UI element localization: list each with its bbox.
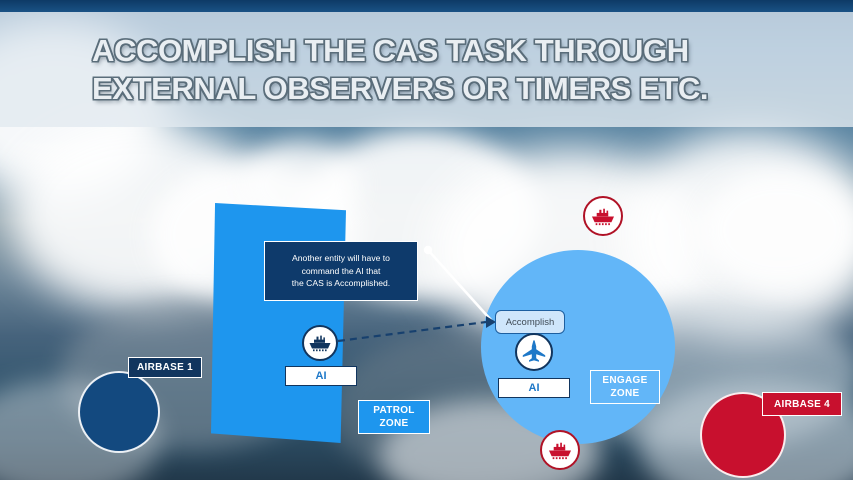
engage-zone-label: ENGAGE ZONE [590,370,660,404]
red-ship-south-token[interactable] [540,430,580,470]
page-title-line-1: ACCOMPLISH THE CAS TASK THROUGH [92,33,689,68]
ship-icon [589,206,617,227]
accomplish-task-label[interactable]: Accomplish [495,310,565,334]
blue-jet-ai-label: AI [498,378,570,398]
blue-ship-token[interactable] [302,325,338,361]
callout-note: Another entity will have to command the … [264,241,418,301]
blue-ship-ai-label: AI [285,366,357,386]
engage-zone-shape[interactable] [481,250,675,444]
callout-line-2: command the AI that [292,265,390,278]
engage-zone-label-line-1: ENGAGE [602,374,647,387]
cloud [700,170,853,290]
page-title-line-2: EXTERNAL OBSERVERS OR TIMERS ETC. [92,70,792,108]
patrol-zone-label: PATROL ZONE [358,400,430,434]
fighter-jet-icon [521,339,547,365]
callout-line-1: Another entity will have to [292,252,390,265]
callout-text: Another entity will have to command the … [284,252,398,290]
page-title: ACCOMPLISH THE CAS TASK THROUGH EXTERNAL… [92,32,792,108]
red-ship-north-token[interactable] [583,196,623,236]
slide-canvas: ACCOMPLISH THE CAS TASK THROUGH EXTERNAL… [0,0,853,480]
ship-icon [546,440,574,461]
engage-zone-label-line-2: ZONE [611,387,640,400]
blue-jet-token[interactable] [515,333,553,371]
callout-line-3: the CAS is Accomplished. [292,277,390,290]
airbase-4-label: AIRBASE 4 [762,392,842,416]
patrol-zone-label-line-2: ZONE [380,417,409,430]
airbase-1-label: AIRBASE 1 [128,357,202,378]
patrol-zone-shape[interactable] [211,203,346,443]
top-sky-strip [0,0,853,12]
ship-icon [307,333,333,353]
airbase-1-circle[interactable] [78,371,160,453]
patrol-zone-label-line-1: PATROL [373,404,414,417]
title-band: ACCOMPLISH THE CAS TASK THROUGH EXTERNAL… [0,12,853,127]
